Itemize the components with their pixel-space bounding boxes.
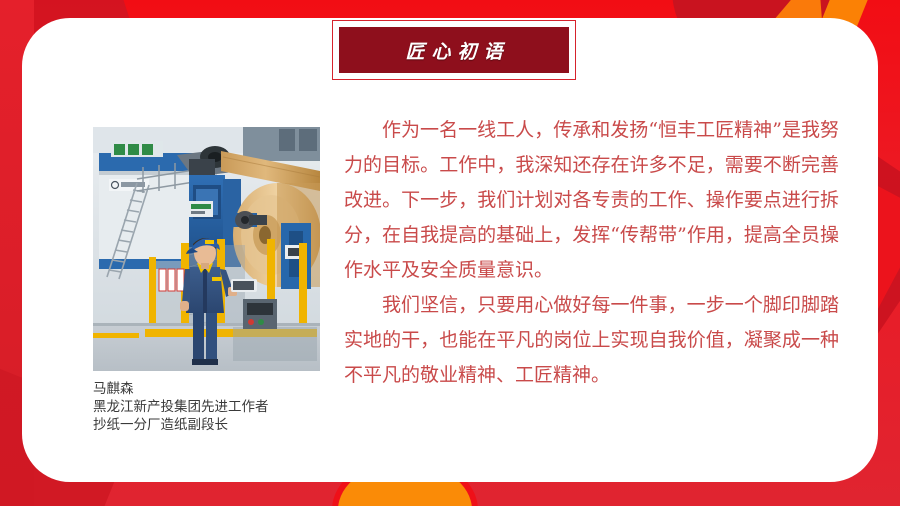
worker-photo — [93, 127, 320, 371]
page-title: 匠心初语 — [398, 37, 509, 64]
worker-photo-image — [93, 127, 320, 371]
photo-caption: 马麒森 黑龙江新产投集团先进工作者 抄纸一分厂造纸副段长 — [93, 380, 353, 434]
poster-stage: 匠心初语 — [0, 0, 900, 506]
title-banner: 匠心初语 — [332, 20, 576, 80]
caption-org: 黑龙江新产投集团先进工作者 — [93, 398, 353, 416]
caption-role: 抄纸一分厂造纸副段长 — [93, 416, 353, 434]
article-paragraph-2: 我们坚信，只要用心做好每一件事，一步一个脚印脚踏实地的干，也能在平凡的岗位上实现… — [344, 288, 839, 393]
article-body: 作为一名一线工人，传承和发扬“恒丰工匠精神”是我努力的目标。工作中，我深知还存在… — [344, 113, 839, 393]
content-card: 匠心初语 — [22, 18, 878, 482]
title-banner-inner: 匠心初语 — [339, 27, 569, 73]
article-paragraph-1: 作为一名一线工人，传承和发扬“恒丰工匠精神”是我努力的目标。工作中，我深知还存在… — [344, 113, 839, 288]
caption-name: 马麒森 — [93, 380, 353, 398]
